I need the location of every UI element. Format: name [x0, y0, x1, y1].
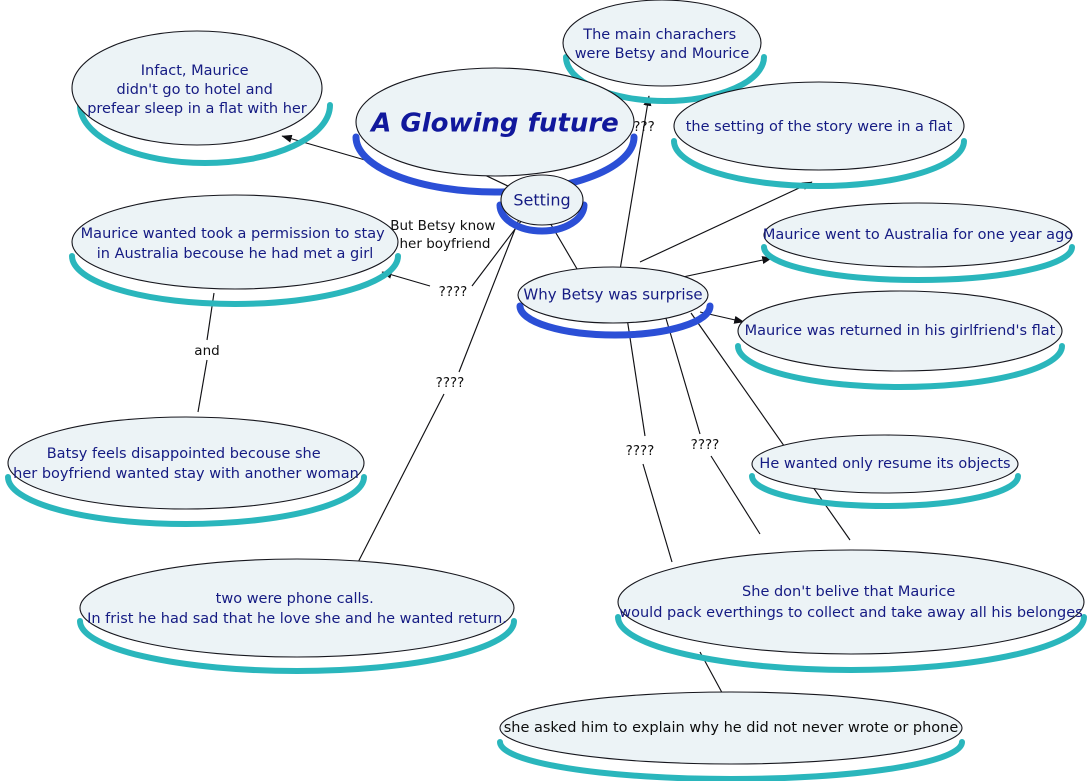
node-setting-of-story[interactable]: the setting of the story were in a flat — [674, 82, 964, 186]
edge-label-but-betsy: But Betsy know her boyfriend — [390, 218, 500, 252]
node-title[interactable]: A Glowing future — [356, 68, 634, 192]
edge-permission-to-batsy-upper — [207, 293, 214, 340]
edge-label-phone-calls: ???? — [436, 375, 465, 391]
edge-label-resume-objects: ???? — [691, 437, 720, 453]
node-maurice-returned[interactable]: Maurice was returned in his girlfriend's… — [738, 291, 1062, 387]
node-setting[interactable]: Setting — [500, 175, 584, 231]
node-label: Maurice went to Australia for one year a… — [763, 227, 1073, 243]
node-maurice-permission[interactable]: Maurice wanted took a permission to stay… — [72, 195, 398, 304]
node-label: A Glowing future — [369, 109, 619, 139]
node-resume-objects[interactable]: He wanted only resume its objects — [752, 435, 1018, 506]
edge-label-dont-belive: ???? — [626, 443, 655, 459]
node-why-betsy-surprise[interactable]: Why Betsy was surprise — [518, 267, 710, 335]
node-body — [8, 417, 364, 509]
node-phone-calls[interactable]: two were phone calls. In frist he had sa… — [80, 559, 514, 671]
node-label: Why Betsy was surprise — [523, 286, 702, 304]
edge-label-and: and — [194, 343, 219, 359]
edge-label-permission: ???? — [439, 284, 468, 300]
node-she-asked-him[interactable]: she asked him to explain why he did not … — [500, 692, 962, 779]
node-body — [563, 0, 761, 86]
edge-permission-to-batsy-lower — [198, 360, 207, 412]
node-body — [80, 559, 514, 657]
node-maurice-australia[interactable]: Maurice went to Australia for one year a… — [763, 203, 1073, 280]
node-label: Maurice was returned in his girlfriend's… — [745, 323, 1056, 339]
node-dont-belive[interactable]: She don't belive that Maurice would pack… — [618, 550, 1084, 670]
node-infact-maurice[interactable]: Infact, Maurice didn't go to hotel and p… — [72, 31, 330, 163]
node-label: He wanted only resume its objects — [759, 456, 1010, 472]
edge-surprise-to-dontbelive-lower — [643, 464, 672, 562]
edge-label-main-characters: ??? — [633, 119, 655, 135]
node-label: the setting of the story were in a flat — [686, 119, 953, 135]
node-batsy-disappointed[interactable]: Batsy feels disappointed becouse she her… — [8, 417, 364, 524]
node-body — [618, 550, 1084, 654]
node-label: she asked him to explain why he did not … — [504, 720, 959, 736]
node-label: Setting — [513, 191, 570, 210]
concept-map-canvas: Infact, Maurice didn't go to hotel and p… — [0, 0, 1092, 781]
node-body — [72, 195, 398, 289]
